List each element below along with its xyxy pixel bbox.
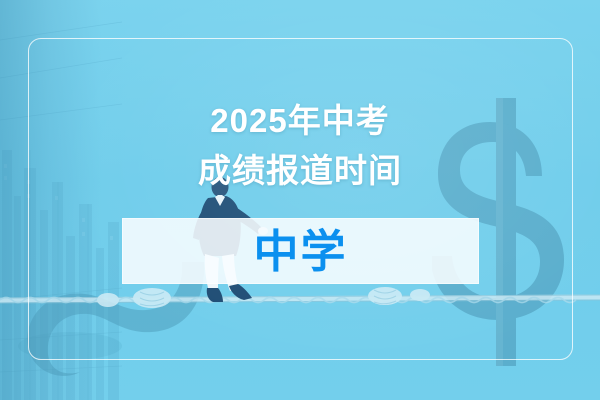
category-label: 中学 <box>122 218 479 284</box>
category-band: 中学 <box>122 218 479 284</box>
headline: 2025年中考 成绩报道时间 <box>0 96 600 196</box>
headline-line-2: 成绩报道时间 <box>0 146 600 196</box>
promo-banner: 2025年中考 成绩报道时间 中学 <box>0 0 600 400</box>
headline-line-1: 2025年中考 <box>0 96 600 146</box>
